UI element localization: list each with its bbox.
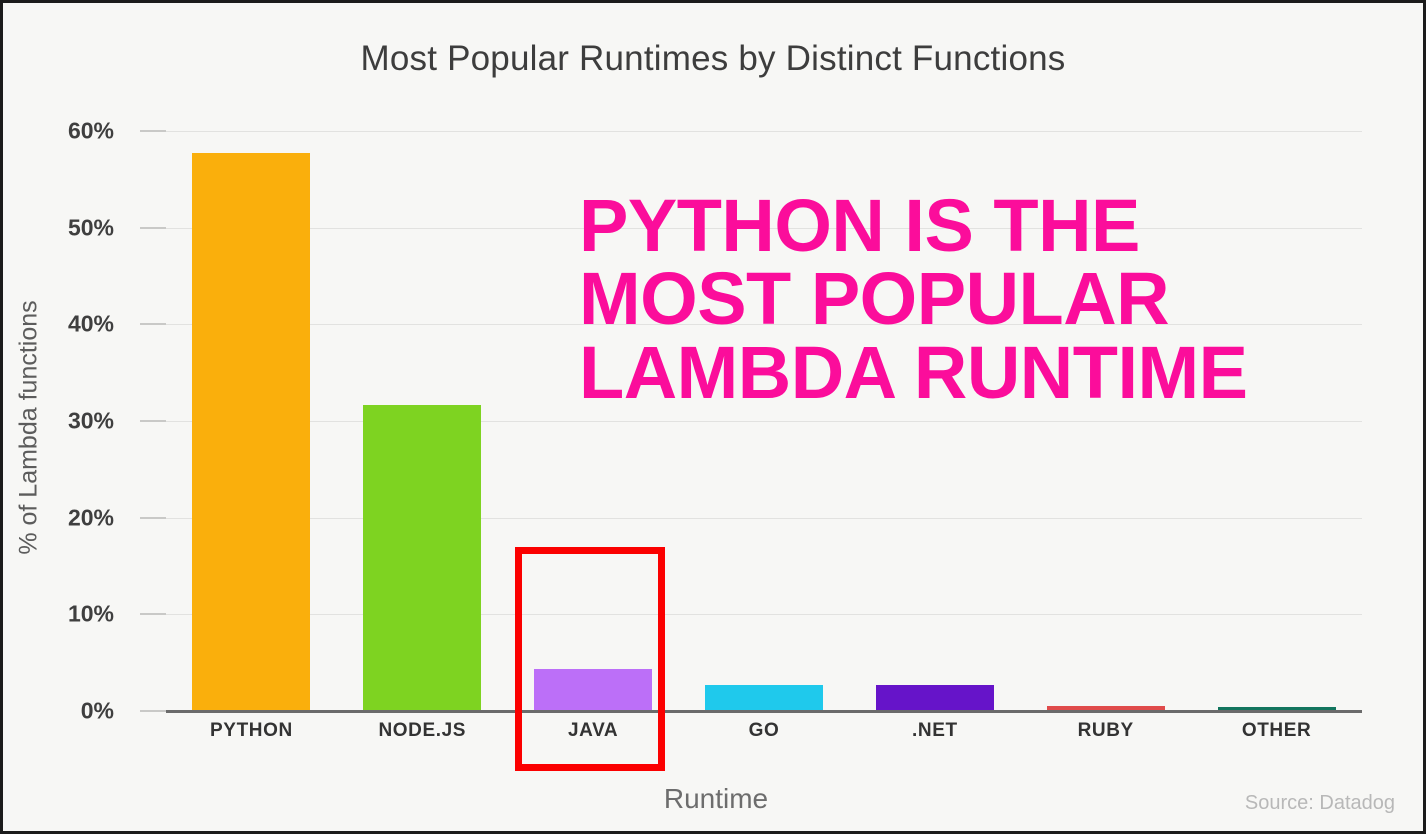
y-tick-mark xyxy=(140,613,166,615)
callout-line: LAMBDA RUNTIME xyxy=(579,336,1309,409)
bar-net xyxy=(876,685,994,711)
callout-text: PYTHON IS THEMOST POPULARLAMBDA RUNTIME xyxy=(579,189,1309,409)
y-tick-label: 40% xyxy=(4,311,114,338)
callout-line: PYTHON IS THE xyxy=(579,189,1309,262)
y-tick-label: 30% xyxy=(4,408,114,435)
y-tick-mark xyxy=(140,227,166,229)
x-tick-label: RUBY xyxy=(1078,720,1134,742)
y-tick-label: 20% xyxy=(4,504,114,531)
bar-node-js xyxy=(363,405,481,711)
y-tick-label: 10% xyxy=(4,601,114,628)
source-note: Source: Datadog xyxy=(1245,792,1395,815)
bar-go xyxy=(705,685,823,711)
bar-python xyxy=(192,153,310,711)
axis-baseline xyxy=(166,710,1362,713)
java-highlight-box xyxy=(515,547,665,771)
y-tick-mark xyxy=(140,420,166,422)
bar-group: NODE.JS xyxy=(337,131,508,711)
x-tick-label: .NET xyxy=(912,720,958,742)
x-axis-title: Runtime xyxy=(3,783,1426,815)
y-tick-label: 50% xyxy=(4,214,114,241)
x-tick-label: NODE.JS xyxy=(378,720,466,742)
y-tick-label: 60% xyxy=(4,118,114,145)
y-tick-mark xyxy=(140,130,166,132)
page-title: Most Popular Runtimes by Distinct Functi… xyxy=(3,39,1423,79)
y-tick-mark xyxy=(140,517,166,519)
x-tick-label: GO xyxy=(749,720,780,742)
bar-group: PYTHON xyxy=(166,131,337,711)
callout-line: MOST POPULAR xyxy=(579,262,1309,335)
y-tick-mark xyxy=(140,710,166,712)
y-tick-mark xyxy=(140,323,166,325)
x-tick-label: PYTHON xyxy=(210,720,293,742)
y-tick-label: 0% xyxy=(4,698,114,725)
chart-screenshot: Most Popular Runtimes by Distinct Functi… xyxy=(0,0,1426,834)
x-tick-label: OTHER xyxy=(1242,720,1312,742)
